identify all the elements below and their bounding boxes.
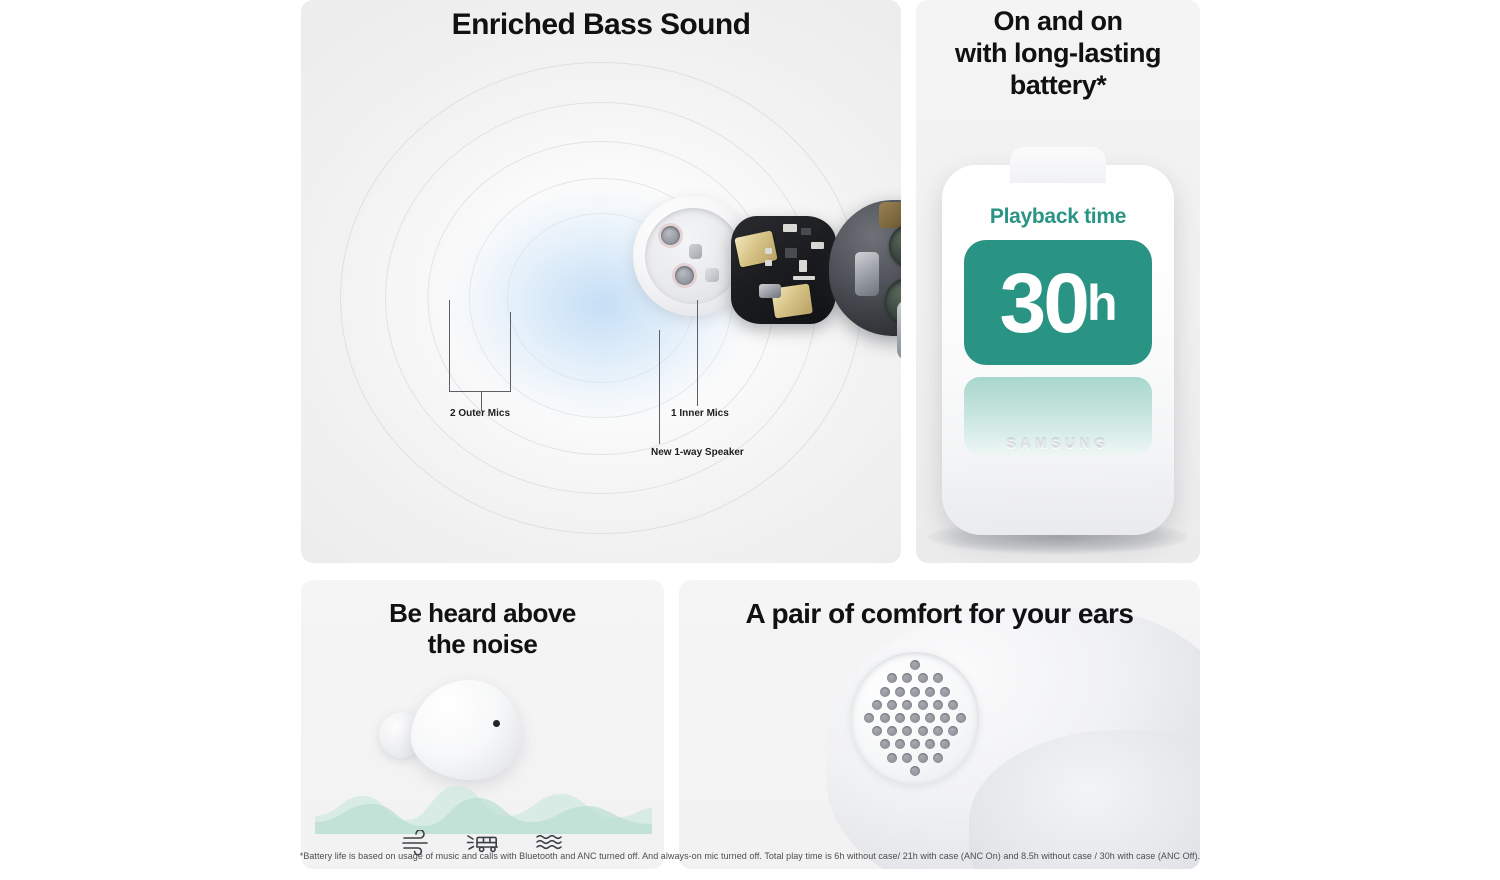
product-feature-board: Enriched Bass Sound [0, 0, 1500, 880]
noise-title-line-1: Be heard above [301, 598, 664, 629]
smd-part [793, 276, 815, 280]
grille-hole [887, 753, 897, 763]
grille-hole [933, 700, 943, 710]
battery-hours-number: 30 [1000, 261, 1087, 345]
battery-hours-value: 30 h [964, 240, 1152, 365]
driver-plate [855, 252, 879, 296]
grille-hole [880, 739, 890, 749]
noise-earbud-body [411, 680, 521, 780]
callout-line [659, 330, 660, 444]
smd-part [811, 242, 824, 249]
grille-hole [902, 673, 912, 683]
noise-title-line-2: the noise [301, 629, 664, 660]
grille-hole [940, 687, 950, 697]
brass-frame [879, 202, 901, 228]
callout-label-inner-mics: 1 Inner Mics [671, 408, 729, 419]
grille-hole [902, 726, 912, 736]
shell-contact [689, 244, 702, 259]
shell-port [661, 226, 680, 245]
grille-hole [895, 713, 905, 723]
grille-hole [956, 713, 966, 723]
smd-part [799, 260, 807, 272]
panel-enriched-bass-sound: Enriched Bass Sound [301, 0, 901, 563]
speaker-grille [851, 652, 979, 784]
speaker-nozzle [897, 300, 901, 360]
callout-line [697, 300, 698, 406]
grille-hole [948, 700, 958, 710]
grille-hole [864, 713, 874, 723]
grille-hole [940, 739, 950, 749]
battery-title-line-3: battery* [916, 70, 1200, 102]
callout-line [510, 312, 511, 392]
smd-part [785, 248, 797, 258]
grille-hole [880, 687, 890, 697]
grille-hole [925, 687, 935, 697]
grille-hole [910, 713, 920, 723]
grille-hole [940, 713, 950, 723]
grille-hole [933, 673, 943, 683]
grille-hole [872, 700, 882, 710]
grille-hole [918, 726, 928, 736]
noise-earbud-mic [493, 720, 500, 727]
grille-hole [880, 713, 890, 723]
shell-port [675, 266, 694, 285]
driver-magnet [889, 224, 901, 268]
smd-part [801, 228, 811, 235]
battery-hours-chip: 30 h [964, 240, 1152, 365]
earbud-circuit-board [731, 216, 836, 324]
grille-hole [872, 726, 882, 736]
charging-case: Playback time 30 h SAMSUNG [942, 165, 1174, 535]
grille-hole [933, 726, 943, 736]
grille-hole [895, 687, 905, 697]
grille-hole [948, 726, 958, 736]
panel-title-battery: On and on with long-lasting battery* [916, 6, 1200, 102]
grille-hole [910, 660, 920, 670]
shell-cavity [645, 208, 741, 304]
grille-hole [910, 687, 920, 697]
grille-hole [918, 673, 928, 683]
grille-hole [925, 739, 935, 749]
sound-wave-graphic [311, 776, 656, 836]
callout-line [449, 391, 511, 392]
callout-line [449, 300, 450, 392]
case-lid [1010, 147, 1106, 183]
grille-hole [910, 766, 920, 776]
battery-title-line-2: with long-lasting [916, 38, 1200, 70]
panel-comfort-for-ears: A pair of comfort for your ears [679, 580, 1200, 869]
shell-contact [705, 268, 719, 282]
callout-label-outer-mics: 2 Outer Mics [450, 408, 510, 419]
grille-hole [925, 713, 935, 723]
callout-label-speaker: New 1-way Speaker [651, 447, 744, 458]
panel-title-comfort: A pair of comfort for your ears [679, 598, 1200, 630]
smd-part [765, 248, 772, 254]
grille-hole [902, 700, 912, 710]
smd-shield [759, 284, 781, 298]
footnote-disclaimer: *Battery life is based on usage of music… [0, 851, 1500, 861]
panel-battery-life: On and on with long-lasting battery* Pla… [916, 0, 1200, 563]
grille-hole [887, 700, 897, 710]
battery-hours-unit: h [1087, 278, 1117, 328]
panel-title-noise: Be heard above the noise [301, 598, 664, 660]
grille-hole [887, 673, 897, 683]
grille-hole [933, 753, 943, 763]
grille-hole [895, 739, 905, 749]
grille-hole [918, 700, 928, 710]
playback-time-label: Playback time [942, 205, 1174, 229]
smd-part [765, 260, 772, 266]
grille-hole [918, 753, 928, 763]
panel-title-bass: Enriched Bass Sound [301, 8, 901, 42]
grille-hole [902, 753, 912, 763]
grille-hole [910, 739, 920, 749]
grille-hole [887, 726, 897, 736]
panel-be-heard-above-noise: Be heard above the noise [301, 580, 664, 869]
battery-title-line-1: On and on [916, 6, 1200, 38]
samsung-brand-mark: SAMSUNG [942, 435, 1174, 451]
smd-part [783, 224, 797, 232]
